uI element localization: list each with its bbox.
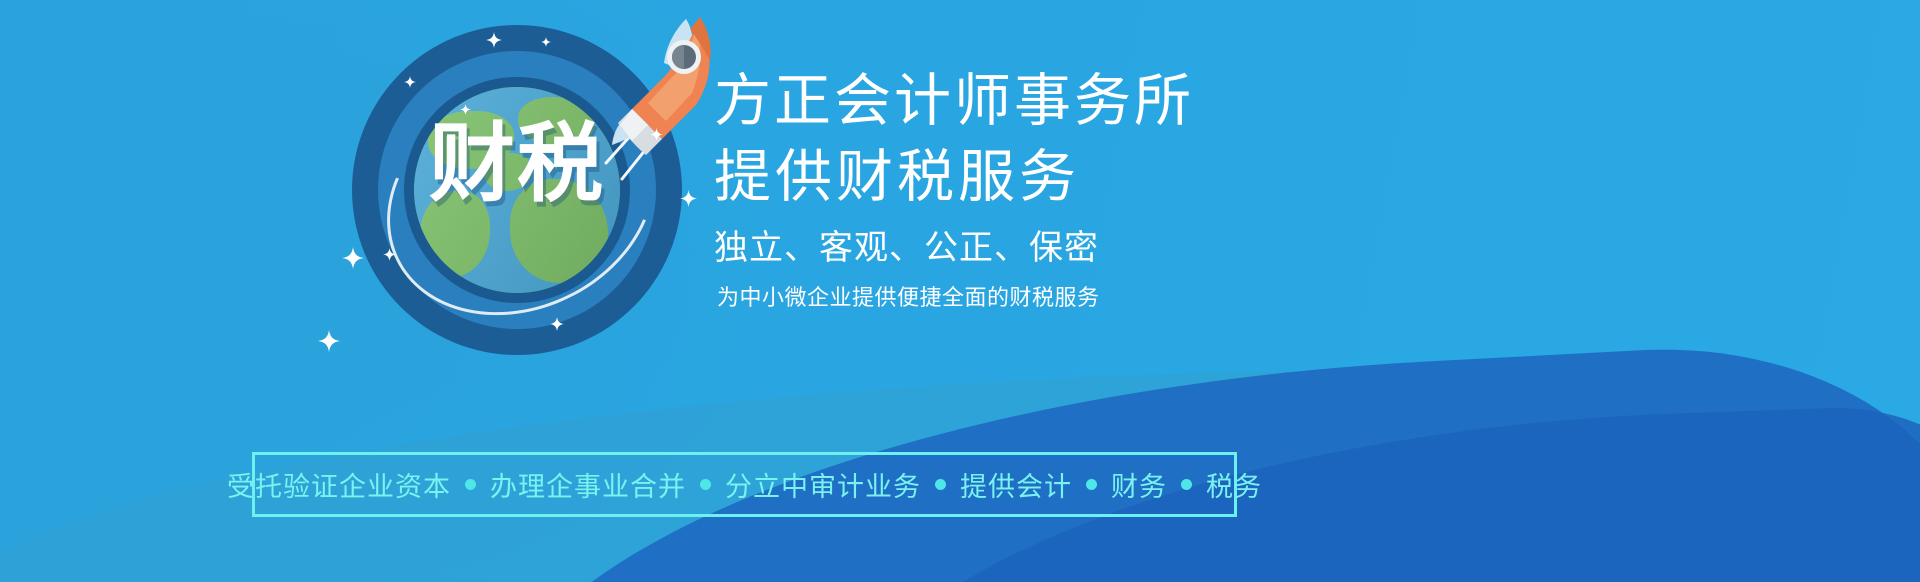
headline-line-1: 方正会计师事务所 — [714, 66, 1414, 136]
headline-block: 方正会计师事务所 提供财税服务 独立、客观、公正、保密 为中小微企业提供便捷全面… — [714, 66, 1414, 314]
sparkle-icon — [550, 317, 564, 331]
keyword-separator-dot — [1086, 479, 1097, 490]
sparkle-icon — [650, 128, 663, 141]
sparkle-icon — [383, 248, 396, 261]
keyword-bar: 受托验证企业资本办理企事业合并分立中审计业务提供会计财务税务 — [252, 452, 1237, 517]
keyword-item[interactable]: 税务 — [1206, 465, 1262, 504]
keyword-item[interactable]: 办理企事业合并 — [490, 465, 686, 504]
headline-subtitle: 为中小微企业提供便捷全面的财税服务 — [717, 284, 1414, 314]
keyword-item[interactable]: 财务 — [1111, 465, 1167, 504]
sparkle-icon — [404, 76, 416, 88]
keyword-separator-dot — [1181, 479, 1192, 490]
sparkle-icon — [680, 190, 697, 207]
keyword-item[interactable]: 受托验证企业资本 — [227, 465, 451, 504]
sparkle-icon — [486, 32, 502, 48]
globe-emblem: 财税 — [352, 25, 682, 355]
keyword-separator-dot — [700, 479, 711, 490]
hero-banner: 财税 — [0, 0, 1920, 582]
sparkle-icon — [342, 247, 364, 269]
keyword-item[interactable]: 提供会计 — [960, 465, 1072, 504]
sparkle-icon — [541, 37, 551, 47]
keyword-separator-dot — [465, 479, 476, 490]
headline-line-2: 提供财税服务 — [714, 142, 1414, 212]
keyword-separator-dot — [935, 479, 946, 490]
keyword-item[interactable]: 分立中审计业务 — [725, 465, 921, 504]
keyword-list: 受托验证企业资本办理企事业合并分立中审计业务提供会计财务税务 — [227, 465, 1262, 504]
sparkle-icon — [318, 330, 340, 352]
headline-line-3: 独立、客观、公正、保密 — [714, 226, 1414, 270]
sparkle-icon — [460, 104, 471, 115]
